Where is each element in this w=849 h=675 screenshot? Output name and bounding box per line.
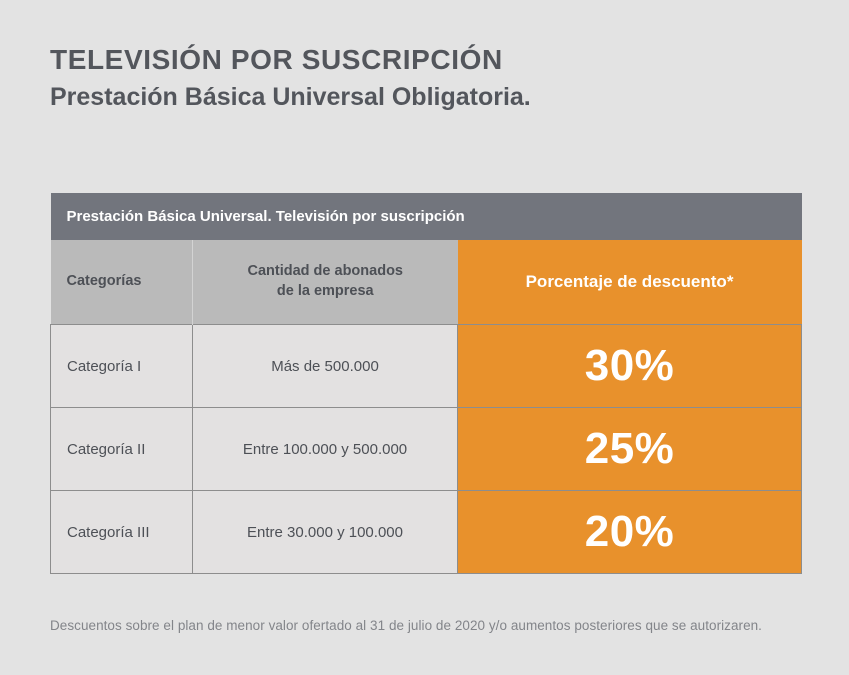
cell-categoria: Categoría II [51,408,193,491]
cell-categoria: Categoría III [51,491,193,574]
table-header-row: Categorías Cantidad de abonados de la em… [51,240,802,325]
cell-abonados: Más de 500.000 [193,325,458,408]
column-header-categorias: Categorías [51,240,193,325]
column-header-abonados-line1: Cantidad de abonados [248,263,404,279]
cell-descuento: 30% [458,325,802,408]
cell-abonados: Entre 100.000 y 500.000 [193,408,458,491]
cell-categoria: Categoría I [51,325,193,408]
column-header-abonados: Cantidad de abonados de la empresa [193,240,458,325]
column-header-abonados-line2: de la empresa [277,283,374,299]
cell-descuento: 20% [458,491,802,574]
table-row: Categoría II Entre 100.000 y 500.000 25% [51,408,802,491]
cell-abonados: Entre 30.000 y 100.000 [193,491,458,574]
table-row: Categoría I Más de 500.000 30% [51,325,802,408]
cell-descuento: 25% [458,408,802,491]
table-banner-row: Prestación Básica Universal. Televisión … [51,193,802,240]
table-banner-title: Prestación Básica Universal. Televisión … [51,193,802,240]
page-title: TELEVISIÓN POR SUSCRIPCIÓN [50,44,790,76]
page-subtitle: Prestación Básica Universal Obligatoria. [50,82,790,112]
footnote-text: Descuentos sobre el plan de menor valor … [50,618,810,633]
discount-table-container: Prestación Básica Universal. Televisión … [50,193,801,574]
title-block: TELEVISIÓN POR SUSCRIPCIÓN Prestación Bá… [50,44,790,112]
discount-table: Prestación Básica Universal. Televisión … [50,193,802,574]
column-header-descuento: Porcentaje de descuento* [458,240,802,325]
table-row: Categoría III Entre 30.000 y 100.000 20% [51,491,802,574]
